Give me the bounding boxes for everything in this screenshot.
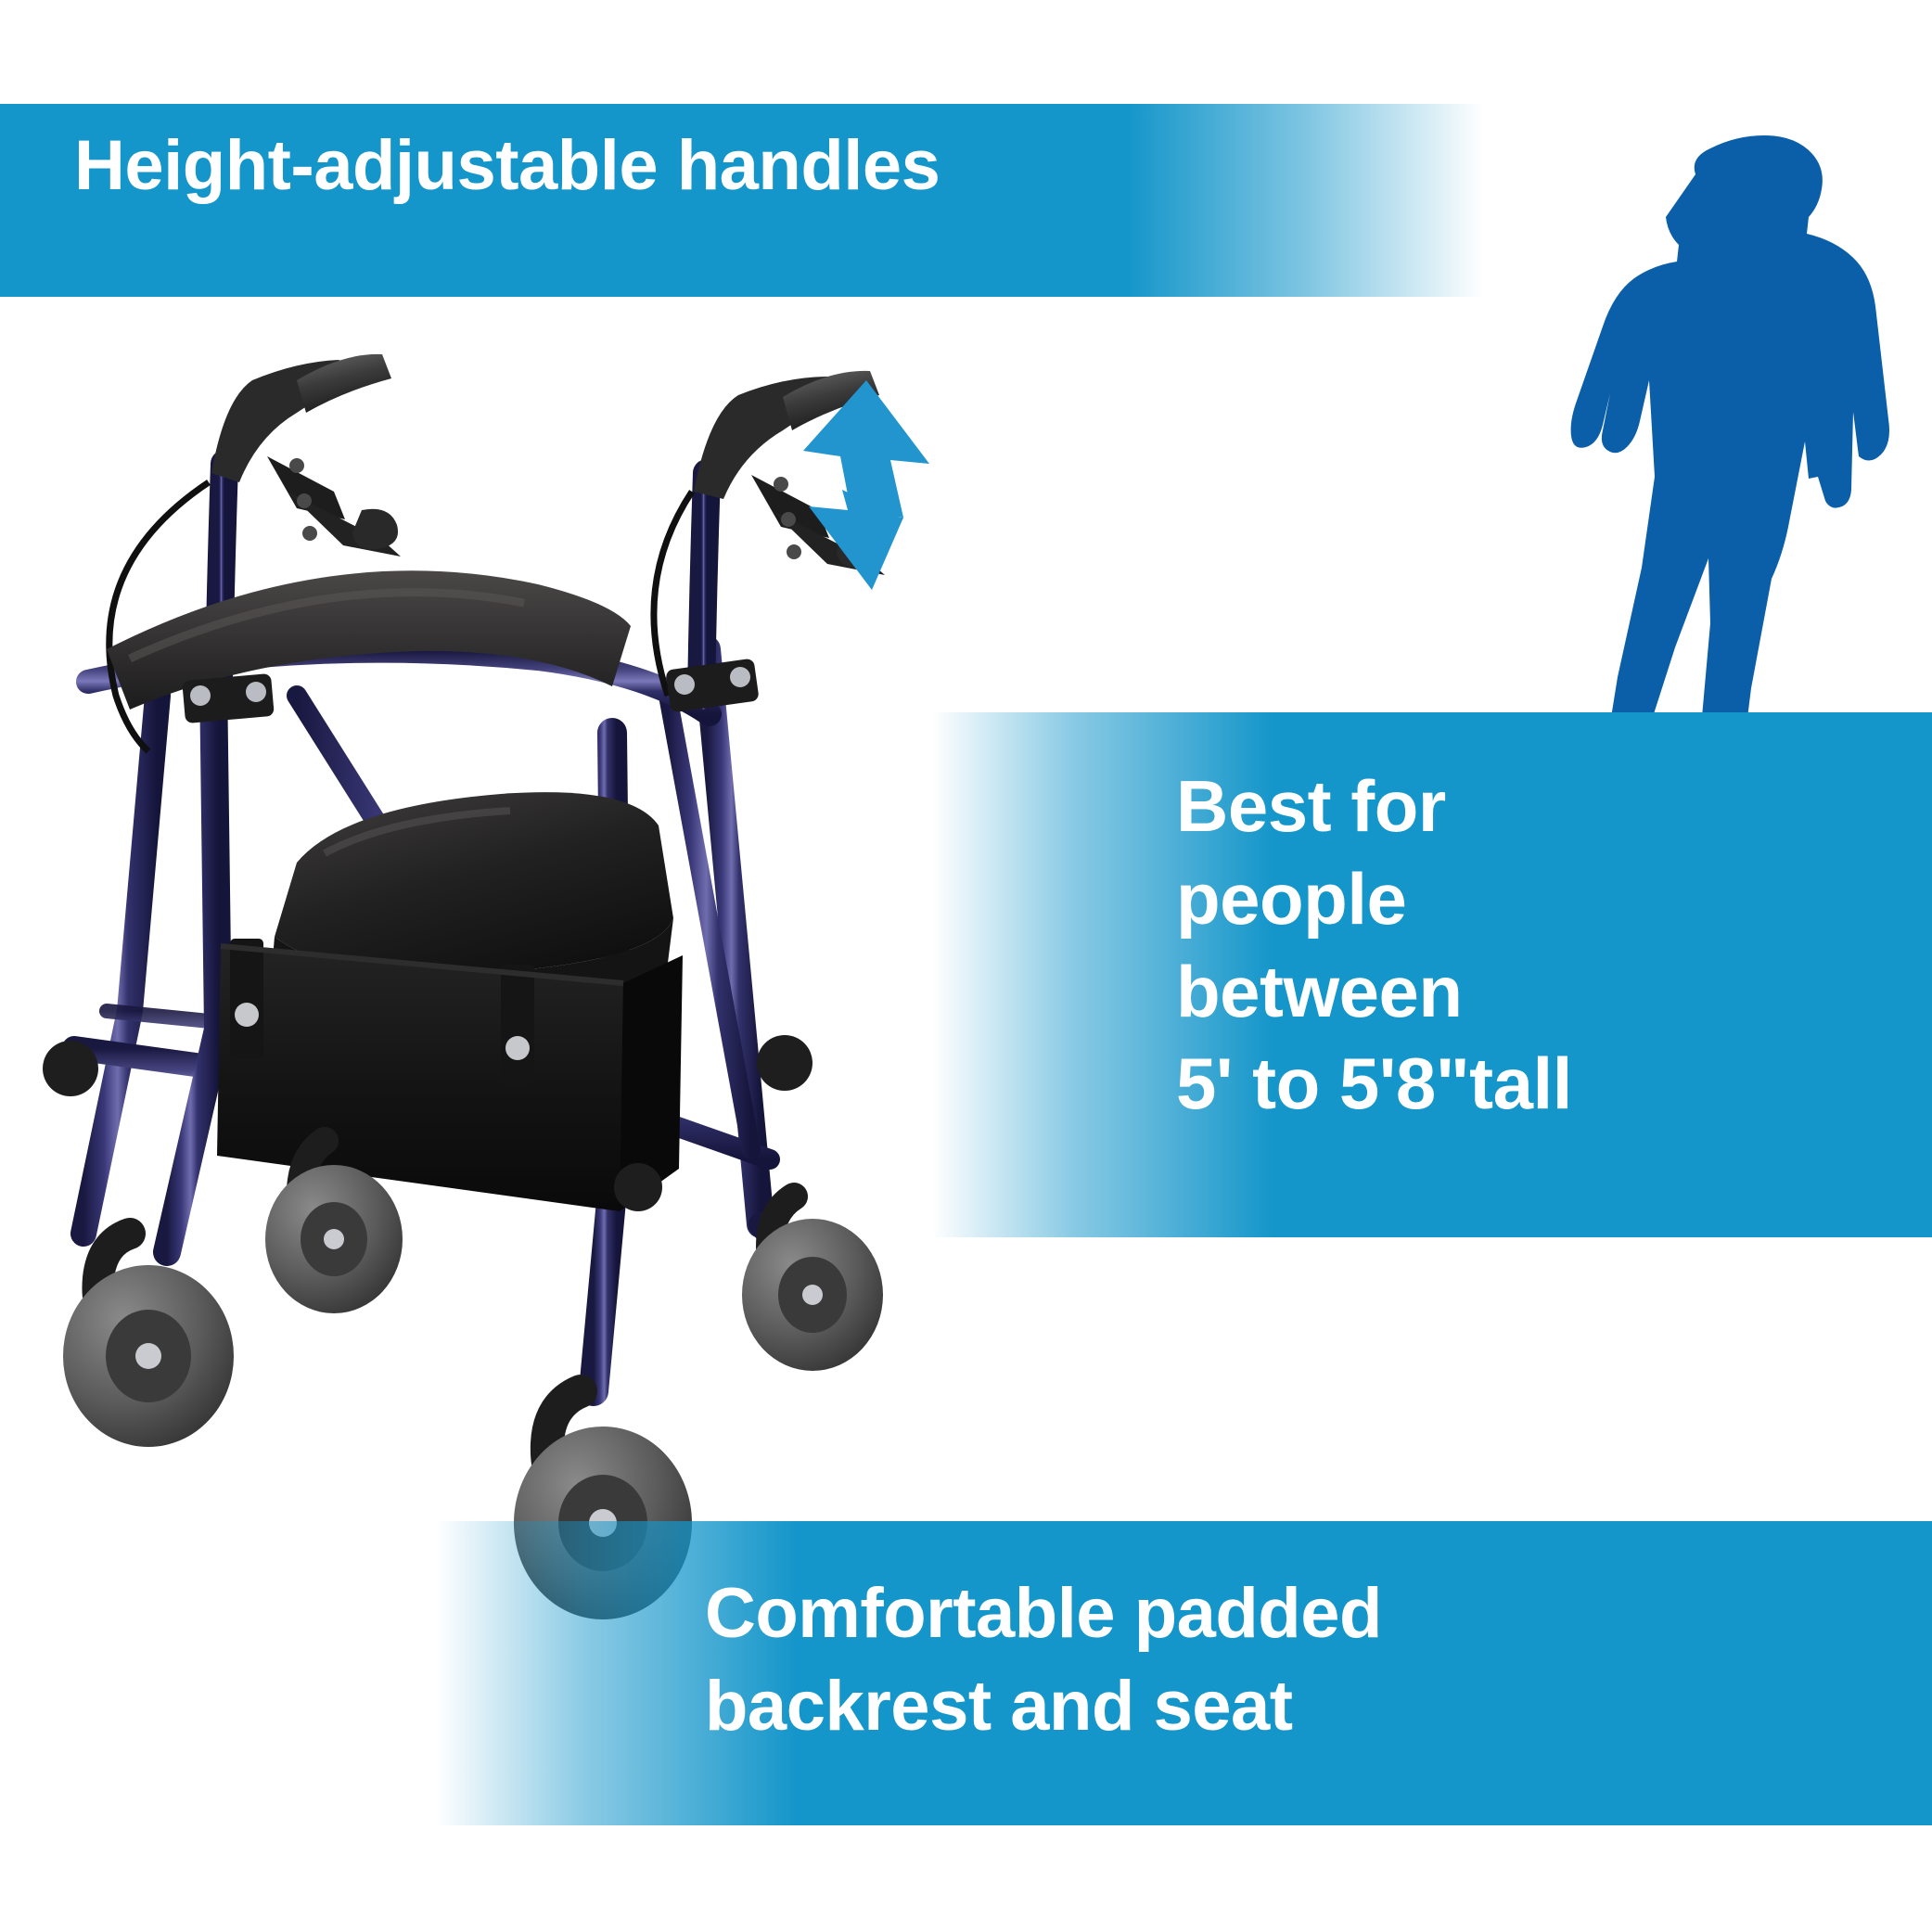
infographic-canvas: Height-adjustable handles Best for peopl… xyxy=(0,0,1932,1932)
arrow-up-down-icon xyxy=(800,378,939,592)
left-handle xyxy=(211,354,401,557)
storage-pouch xyxy=(217,939,683,1211)
caption-comfortable-padded-backrest-and-seat: Comfortable padded backrest and seat xyxy=(705,1567,1911,1754)
wheel-front-left xyxy=(63,1234,234,1447)
caption-best-for-people-height-range: Best for people between 5' to 5'8"tall xyxy=(1176,761,1881,1131)
caption-height-adjustable-handles: Height-adjustable handles xyxy=(74,130,1280,202)
wheel-rear-right xyxy=(742,1196,883,1371)
